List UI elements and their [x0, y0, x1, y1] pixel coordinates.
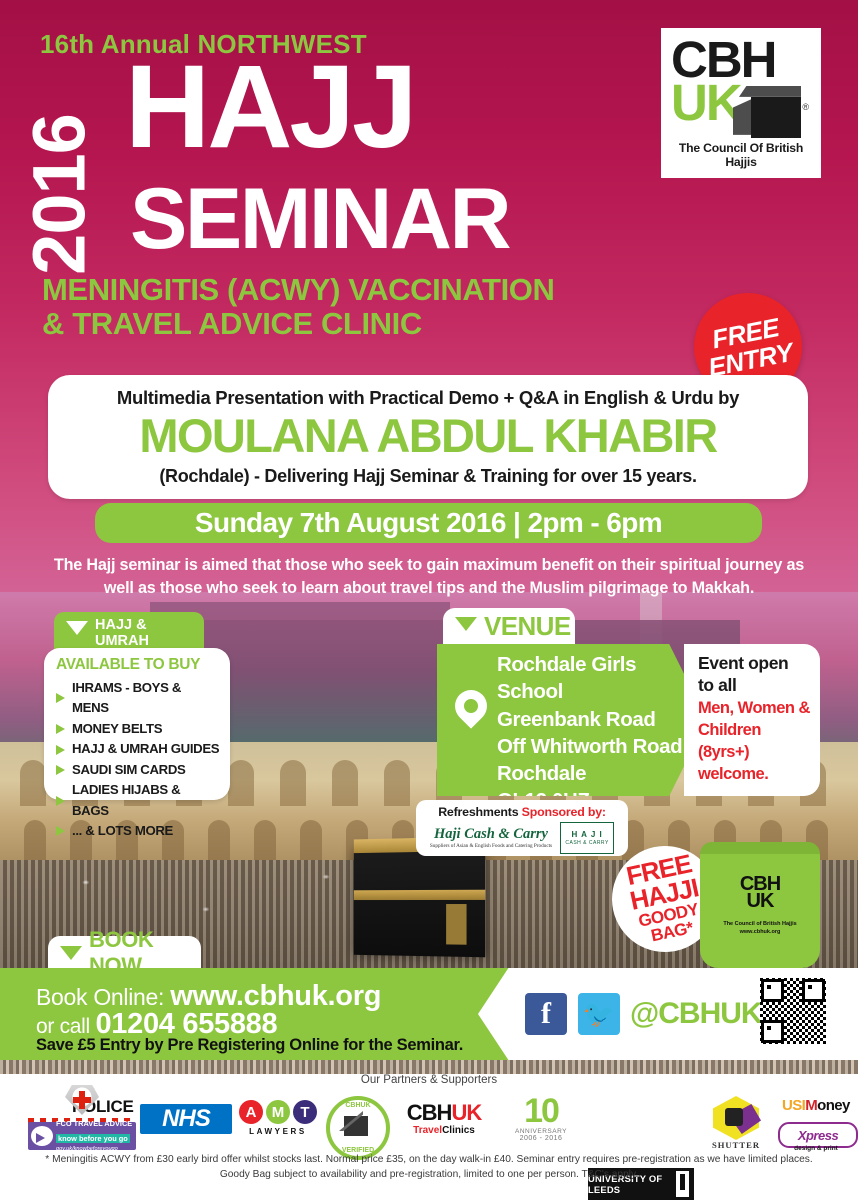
- tab-book-now[interactable]: BOOK NOW: [48, 936, 201, 970]
- refreshments-heading: Refreshments Sponsored by:: [424, 805, 620, 819]
- bag-tagline-block: The Council of British Hajjis www.cbhuk.…: [700, 920, 820, 937]
- anniversary-years: 2006 - 2016: [504, 1135, 578, 1142]
- triangle-down-icon: [455, 617, 477, 631]
- registered-mark: ®: [802, 102, 809, 112]
- shop-card: AVAILABLE TO BUY IHRAMS - BOYS & MENS MO…: [44, 648, 230, 800]
- hajj-seminar-poster: 16th Annual NORTHWEST 2016 HAJJ SEMINAR …: [0, 0, 858, 1200]
- logo-uk-row: UK ®: [671, 82, 811, 138]
- shop-heading: AVAILABLE TO BUY: [56, 656, 220, 674]
- subtitle-line-1: MENINGITIS (ACWY) VACCINATION: [42, 272, 555, 309]
- goody-bag-image: CBH UK The Council of British Hajjis www…: [700, 842, 820, 968]
- venue-address-block: Rochdale Girls School Greenbank Road Off…: [437, 644, 707, 796]
- nhs-text: NHS: [162, 1105, 210, 1133]
- shutter-caption: SHUTTER: [700, 1140, 772, 1150]
- kaaba-cube-icon: [733, 86, 803, 138]
- intro-paragraph: The Hajj seminar is aimed that those who…: [48, 554, 810, 600]
- location-pin-icon: [448, 683, 493, 728]
- disclaimer: * Meningitis ACWY from £30 early bird of…: [0, 1152, 858, 1183]
- tc-clinics: Clinics: [442, 1125, 475, 1136]
- list-item: LADIES HIJABS & BAGS: [56, 780, 220, 821]
- call-prefix: or call: [36, 1015, 90, 1038]
- triangle-right-icon: [56, 693, 65, 703]
- travel-clinics-mark: CBHUK: [392, 1102, 496, 1124]
- bag-drawstring: [700, 842, 820, 854]
- bag-brand-uk: UK: [700, 893, 820, 910]
- venue-address-line: Rochdale: [497, 760, 707, 787]
- usi-part: USI: [782, 1097, 805, 1114]
- fco-travel-advice-logo: FCO TRAVEL ADVICE know before you go gov…: [28, 1122, 136, 1150]
- refreshments-label: Refreshments: [438, 805, 518, 819]
- fco-line-1: FCO TRAVEL ADVICE: [56, 1120, 132, 1128]
- cbhuk-verified-logo: CBHUK VERIFIED: [326, 1096, 390, 1160]
- disclaimer-line-2: Goody Bag subject to availability and pr…: [0, 1167, 858, 1182]
- crowd-strip: [0, 1060, 858, 1074]
- sponsor-subtitle: Suppliers of Asian & English Foods and C…: [430, 844, 552, 849]
- list-item: HAJJ & UMRAH GUIDES: [56, 739, 220, 759]
- year-vertical: 2016: [17, 90, 102, 300]
- cbhuk-logo: CBH UK ® The Council Of British Hajjis: [661, 28, 821, 178]
- triangle-down-icon: [66, 621, 88, 635]
- speaker-card: Multimedia Presentation with Practical D…: [48, 375, 808, 499]
- amt-initials: A M T: [236, 1100, 320, 1124]
- kaaba-cube-icon: [344, 1116, 368, 1136]
- shutter-logo: SHUTTER: [700, 1096, 772, 1150]
- tc-uk: UK: [451, 1100, 481, 1125]
- twitter-icon[interactable]: 🐦: [578, 993, 620, 1035]
- bag-url: www.cbhuk.org: [700, 928, 820, 936]
- date-banner: Sunday 7th August 2016 | 2pm - 6pm: [95, 503, 762, 543]
- xpress-caption: design & print: [778, 1145, 854, 1152]
- list-item: SAUDI SIM CARDS: [56, 760, 220, 780]
- subtitle-line-2: & TRAVEL ADVICE CLINIC: [42, 306, 422, 343]
- triangle-right-icon: [56, 796, 65, 806]
- anniversary-logo: 10 ANNIVERSARY 2006 - 2016: [504, 1096, 578, 1142]
- bag-brand: CBH UK: [700, 876, 820, 910]
- triangle-down-icon: [60, 946, 82, 960]
- social-handle: @CBHUK: [630, 997, 762, 1031]
- haji-mark-icon: H A J I CASH & CARRY: [560, 822, 614, 854]
- facebook-icon[interactable]: f: [525, 993, 567, 1035]
- venue-address-line: Off Whitworth Road: [497, 733, 707, 760]
- page-title-seminar: SEMINAR: [130, 176, 509, 262]
- venue-address-line: Greenbank Road: [497, 706, 707, 733]
- open-line-4: Children (8yrs+): [698, 720, 812, 763]
- page-title-hajj: HAJJ: [125, 48, 415, 166]
- shutter-icon: [713, 1096, 759, 1140]
- venue-address-line: Rochdale Girls School: [497, 651, 707, 706]
- shop-item-label: LADIES HIJABS & BAGS: [72, 780, 220, 821]
- refreshments-sponsor-card: Refreshments Sponsored by: Haji Cash & C…: [416, 800, 628, 856]
- amt-a: A: [239, 1100, 263, 1124]
- open-line-5: welcome.: [698, 764, 812, 785]
- nhs-logo: NHS: [140, 1104, 232, 1134]
- open-line-2: to all: [698, 674, 812, 696]
- logo-tagline: The Council Of British Hajjis: [671, 141, 811, 169]
- fco-text-block: FCO TRAVEL ADVICE know before you go gov…: [56, 1120, 132, 1153]
- shop-item-label: ... & LOTS MORE: [72, 821, 173, 841]
- open-line-1: Event open: [698, 652, 812, 674]
- amt-lawyers-logo: A M T LAWYERS: [236, 1100, 320, 1136]
- sponsored-by-label: Sponsored by:: [522, 805, 606, 819]
- kaaba-icon: [354, 847, 485, 958]
- partner-logo-row: CITY POLICE FCO TRAVEL ADVICE know befor…: [0, 1088, 858, 1150]
- triangle-right-icon: [56, 765, 65, 775]
- list-item: ... & LOTS MORE: [56, 821, 220, 841]
- shop-item-label: SAUDI SIM CARDS: [72, 760, 185, 780]
- triangle-right-icon: [56, 724, 65, 734]
- anniversary-label: ANNIVERSARY: [504, 1128, 578, 1135]
- amt-caption: LAWYERS: [236, 1127, 320, 1136]
- usi-money-text: USIMoney: [782, 1098, 854, 1113]
- triangle-right-icon: [56, 745, 65, 755]
- bag-tagline: The Council of British Hajjis: [700, 920, 820, 928]
- open-to-all-card: Event open to all Men, Women & Children …: [684, 644, 820, 796]
- fco-line-2: know before you go: [56, 1134, 130, 1143]
- speaker-intro: Multimedia Presentation with Practical D…: [48, 375, 808, 409]
- list-item: MONEY BELTS: [56, 719, 220, 739]
- logo-uk-text: UK: [671, 80, 741, 126]
- xpress-text: Xpress: [798, 1128, 838, 1143]
- shop-item-label: IHRAMS - BOYS & MENS: [72, 678, 220, 719]
- tc-cbh: CBH: [407, 1100, 452, 1125]
- open-line-3: Men, Women &: [698, 698, 812, 719]
- shop-item-label: HAJJ & UMRAH GUIDES: [72, 739, 219, 759]
- speaker-credentials: (Rochdale) - Delivering Hajj Seminar & T…: [48, 466, 808, 487]
- qr-code-icon[interactable]: [760, 978, 826, 1044]
- sponsor-name: Haji Cash & Carry: [430, 827, 552, 842]
- haji-mark-top: H A J I: [571, 831, 602, 839]
- list-item: IHRAMS - BOYS & MENS: [56, 678, 220, 719]
- disclaimer-line-1: * Meningitis ACWY from £30 early bird of…: [0, 1152, 858, 1167]
- usi-money-logo: USIMoney: [782, 1098, 854, 1113]
- arrow-icon: [31, 1126, 53, 1146]
- money-rest: oney: [817, 1097, 850, 1114]
- amt-t: T: [293, 1100, 317, 1124]
- haji-cash-carry-logo: Haji Cash & Carry Suppliers of Asian & E…: [430, 827, 552, 849]
- verified-top: CBHUK: [330, 1102, 386, 1109]
- cbhuk-travel-clinics-logo: CBHUK TravelClinics: [392, 1102, 496, 1136]
- date-banner-text: Sunday 7th August 2016 | 2pm - 6pm: [195, 507, 662, 539]
- money-m: M: [805, 1097, 817, 1114]
- anniversary-number: 10: [504, 1096, 578, 1127]
- tab-venue-label: VENUE: [484, 613, 571, 639]
- haji-mark-bottom: CASH & CARRY: [565, 841, 608, 846]
- book-online-prefix: Book Online:: [36, 984, 164, 1010]
- travel-clinics-sub: TravelClinics: [392, 1125, 496, 1136]
- triangle-right-icon: [56, 826, 65, 836]
- sponsor-logos: Haji Cash & Carry Suppliers of Asian & E…: [424, 822, 620, 854]
- speaker-name: MOULANA ABDUL KHABIR: [48, 411, 808, 462]
- amt-m: M: [266, 1100, 290, 1124]
- shop-item-label: MONEY BELTS: [72, 719, 162, 739]
- save-note: Save £5 Entry by Pre Registering Online …: [36, 1036, 463, 1055]
- tc-travel: Travel: [413, 1125, 442, 1136]
- tab-venue: VENUE: [443, 608, 575, 648]
